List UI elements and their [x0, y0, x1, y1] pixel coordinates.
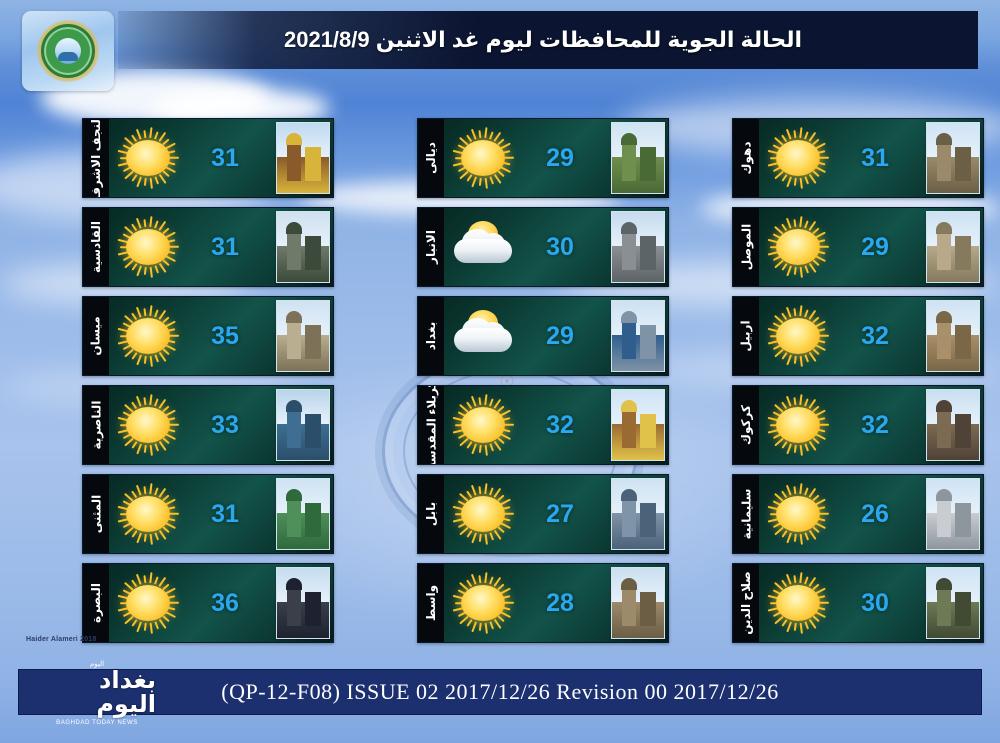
- forecast-row: واسط2847: [353, 563, 669, 641]
- sun-icon: [763, 393, 833, 457]
- forecast-row: الانبار3047: [353, 207, 669, 285]
- forecast-row: بابل2747: [353, 474, 669, 552]
- city-name: الناصرية: [89, 401, 103, 450]
- city-name: المثنى: [89, 495, 103, 534]
- landmark-thumbnail: [926, 389, 980, 461]
- min-temperature: 30: [532, 233, 588, 262]
- min-temperature: 36: [197, 589, 253, 618]
- city-name: كركوك: [739, 405, 753, 445]
- city-name: القادسية: [89, 221, 103, 273]
- footer: (QP-12-F08) ISSUE 02 2017/12/26 Revision…: [18, 669, 980, 717]
- landmark-thumbnail: [926, 567, 980, 639]
- landmark-thumbnail: [276, 567, 330, 639]
- sun-icon: [763, 571, 833, 635]
- min-temperature: 31: [197, 500, 253, 529]
- min-temperature: 32: [847, 322, 903, 351]
- min-temperature: 31: [847, 144, 903, 173]
- landmark-thumbnail: [276, 389, 330, 461]
- city-tab: القادسية: [83, 208, 109, 286]
- landmark-thumbnail: [611, 211, 665, 283]
- column-right: دهوك3142الموصل2946اربيل3243كركوك3246سليم…: [668, 118, 984, 638]
- forecast-row: ميسان3549: [18, 296, 334, 374]
- min-temperature: 29: [847, 233, 903, 262]
- sun-icon: [113, 482, 183, 546]
- sun-icon: [763, 304, 833, 368]
- city-name: النجف الاشرف: [89, 118, 103, 198]
- city-tab: ديالى: [418, 119, 444, 197]
- city-name: البصرة: [89, 583, 103, 623]
- landmark-thumbnail: [926, 300, 980, 372]
- landmark-thumbnail: [611, 300, 665, 372]
- footer-doc-code: (QP-12-F08) ISSUE 02 2017/12/26 Revision…: [221, 679, 778, 705]
- sun-icon: [763, 482, 833, 546]
- authority-logo: [22, 11, 114, 91]
- forecast-row: القادسية3147: [18, 207, 334, 285]
- min-temperature: 32: [847, 411, 903, 440]
- min-temperature: 29: [532, 144, 588, 173]
- forecast-row: الناصرية3349: [18, 385, 334, 463]
- sun-icon: [448, 393, 518, 457]
- city-name: ميسان: [89, 316, 103, 355]
- city-tab: النجف الاشرف: [83, 119, 109, 197]
- min-temperature: 26: [847, 500, 903, 529]
- landmark-thumbnail: [276, 211, 330, 283]
- sun-icon: [113, 304, 183, 368]
- sun-icon: [113, 571, 183, 635]
- landmark-thumbnail: [611, 567, 665, 639]
- sun-icon: [763, 215, 833, 279]
- min-temperature: 29: [532, 322, 588, 351]
- footer-bar: (QP-12-F08) ISSUE 02 2017/12/26 Revision…: [18, 669, 982, 715]
- landmark-thumbnail: [611, 478, 665, 550]
- landmark-thumbnail: [611, 389, 665, 461]
- logo-ring-icon: [37, 20, 99, 82]
- watermark-top-label: اليوم: [90, 660, 104, 668]
- sun-icon: [448, 126, 518, 190]
- min-temperature: 32: [532, 411, 588, 440]
- landmark-thumbnail: [276, 478, 330, 550]
- city-name: ديالى: [424, 142, 438, 174]
- sun-cloud-icon: [448, 215, 518, 279]
- landmark-thumbnail: [926, 478, 980, 550]
- landmark-thumbnail: [611, 122, 665, 194]
- city-tab: دهوك: [733, 119, 759, 197]
- landmark-thumbnail: [276, 300, 330, 372]
- city-tab: المثنى: [83, 475, 109, 553]
- forecast-row: ديالى2947: [353, 118, 669, 196]
- forecast-grid: النجف الاشرف3148القادسية3147ميسان3549الن…: [0, 118, 1000, 638]
- city-tab: الموصل: [733, 208, 759, 286]
- city-tab: ميسان: [83, 297, 109, 375]
- sun-icon: [113, 126, 183, 190]
- city-tab: اربيل: [733, 297, 759, 375]
- min-temperature: 27: [532, 500, 588, 529]
- min-temperature: 33: [197, 411, 253, 440]
- city-tab: صلاح الدين: [733, 564, 759, 642]
- sun-icon: [113, 215, 183, 279]
- author-credit: Haider Alameri 2018: [26, 636, 96, 643]
- city-name: كربلاء المقدسة: [424, 385, 438, 465]
- city-tab: الناصرية: [83, 386, 109, 464]
- sun-icon: [113, 393, 183, 457]
- forecast-row: كربلاء المقدسة3247: [353, 385, 669, 463]
- city-name: واسط: [424, 585, 438, 621]
- forecast-row: سليمانية2642: [668, 474, 984, 552]
- sun-icon: [763, 126, 833, 190]
- city-tab: كركوك: [733, 386, 759, 464]
- city-tab: كربلاء المقدسة: [418, 386, 444, 464]
- city-name: الانبار: [424, 230, 438, 264]
- forecast-row: بغداد2947: [353, 296, 669, 374]
- column-middle: ديالى2947الانبار3047بغداد2947كربلاء المق…: [353, 118, 669, 638]
- city-tab: البصرة: [83, 564, 109, 642]
- landmark-thumbnail: [276, 122, 330, 194]
- forecast-row: كركوك3246: [668, 385, 984, 463]
- city-name: بغداد: [424, 322, 438, 350]
- forecast-row: المثنى3148: [18, 474, 334, 552]
- city-tab: الانبار: [418, 208, 444, 286]
- min-temperature: 31: [197, 233, 253, 262]
- city-tab: بغداد: [418, 297, 444, 375]
- logo-inner-circle-icon: [41, 24, 95, 78]
- forecast-row: دهوك3142: [668, 118, 984, 196]
- landmark-thumbnail: [926, 211, 980, 283]
- sun-cloud-icon: [448, 304, 518, 368]
- city-name: اربيل: [739, 320, 753, 351]
- page-title: الحالة الجوية للمحافظات ليوم غد الاثنين …: [284, 27, 812, 53]
- min-temperature: 31: [197, 144, 253, 173]
- city-tab: واسط: [418, 564, 444, 642]
- forecast-row: الموصل2946: [668, 207, 984, 285]
- city-name: الموصل: [739, 224, 753, 271]
- title-bar: الحالة الجوية للمحافظات ليوم غد الاثنين …: [118, 11, 978, 69]
- city-name: دهوك: [739, 142, 753, 175]
- forecast-row: صلاح الدين3047: [668, 563, 984, 641]
- column-left: النجف الاشرف3148القادسية3147ميسان3549الن…: [18, 118, 334, 638]
- sun-icon: [448, 571, 518, 635]
- forecast-row: النجف الاشرف3148: [18, 118, 334, 196]
- city-tab: بابل: [418, 475, 444, 553]
- logo-cloud-icon: [55, 38, 81, 64]
- city-name: بابل: [424, 502, 438, 526]
- min-temperature: 35: [197, 322, 253, 351]
- forecast-row: اربيل3243: [668, 296, 984, 374]
- watermark-subtitle: BAGHDAD TODAY NEWS: [56, 720, 138, 726]
- city-name: صلاح الدين: [739, 571, 753, 635]
- min-temperature: 30: [847, 589, 903, 618]
- city-tab: سليمانية: [733, 475, 759, 553]
- forecast-row: البصرة3649: [18, 563, 334, 641]
- landmark-thumbnail: [926, 122, 980, 194]
- sun-icon: [448, 482, 518, 546]
- min-temperature: 28: [532, 589, 588, 618]
- weather-forecast-poster: ☉ الحالة الجوية للمحافظات ليوم غد الاثني…: [0, 0, 1000, 743]
- city-name: سليمانية: [739, 489, 753, 540]
